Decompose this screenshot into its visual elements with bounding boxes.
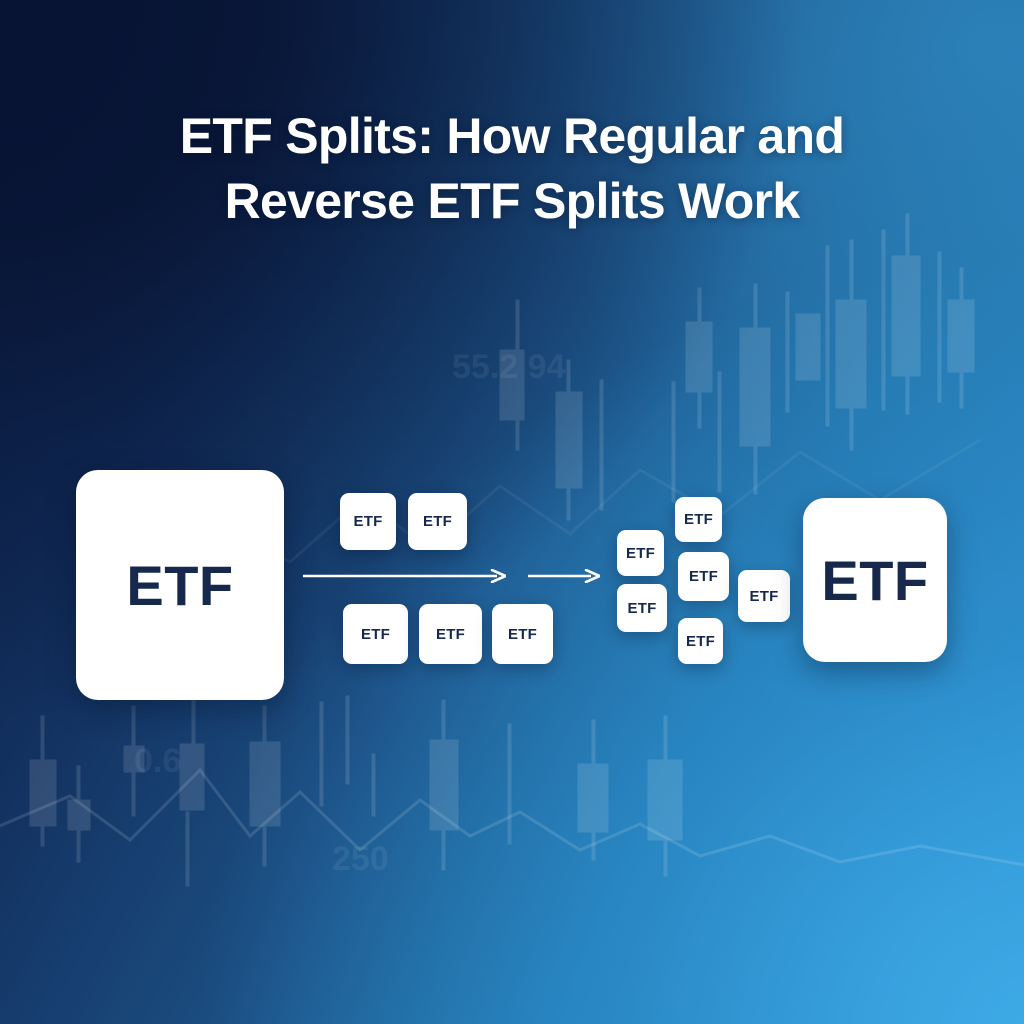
poster-canvas: 55.2 94 0.6 250 ETF Splits: How Regular …	[0, 0, 1024, 1024]
etf-box-reverse-split-shares-group-6: ETF	[738, 570, 790, 622]
etf-box-label: ETF	[750, 588, 779, 605]
etf-box-label: ETF	[689, 568, 718, 585]
etf-box-split-shares-group-4: ETF	[419, 604, 482, 664]
etf-box-split-shares-group-2: ETF	[408, 493, 467, 550]
etf-box-reverse-split-shares-group-2: ETF	[617, 584, 667, 632]
arrow-reverse-split-icon	[528, 569, 600, 583]
etf-box-label: ETF	[686, 633, 715, 650]
etf-box-label: ETF	[508, 626, 537, 643]
etf-box-reverse-split-shares-group-3: ETF	[675, 497, 722, 542]
etf-box-label: ETF	[684, 511, 713, 528]
etf-split-diagram: ETFETFETFETFETFETFETFETFETFETFETFETFETF	[0, 0, 1024, 1024]
etf-box-reverse-split-shares-group-4: ETF	[678, 552, 729, 601]
etf-box-label: ETF	[821, 548, 928, 613]
etf-box-reverse-split-shares-group-1: ETF	[617, 530, 664, 576]
etf-box-label: ETF	[354, 513, 383, 530]
etf-box-label: ETF	[361, 626, 390, 643]
etf-box-single-etf-before-split-1: ETF	[76, 470, 284, 700]
etf-box-split-shares-group-5: ETF	[492, 604, 553, 664]
etf-box-single-etf-after-reverse-split-1: ETF	[803, 498, 947, 662]
etf-box-label: ETF	[423, 513, 452, 530]
etf-box-label: ETF	[628, 600, 657, 617]
etf-box-label: ETF	[126, 553, 233, 618]
etf-box-split-shares-group-3: ETF	[343, 604, 408, 664]
etf-box-label: ETF	[436, 626, 465, 643]
etf-box-split-shares-group-1: ETF	[340, 493, 396, 550]
etf-box-label: ETF	[626, 545, 655, 562]
etf-box-reverse-split-shares-group-5: ETF	[678, 618, 723, 664]
arrow-split-icon	[303, 569, 506, 583]
